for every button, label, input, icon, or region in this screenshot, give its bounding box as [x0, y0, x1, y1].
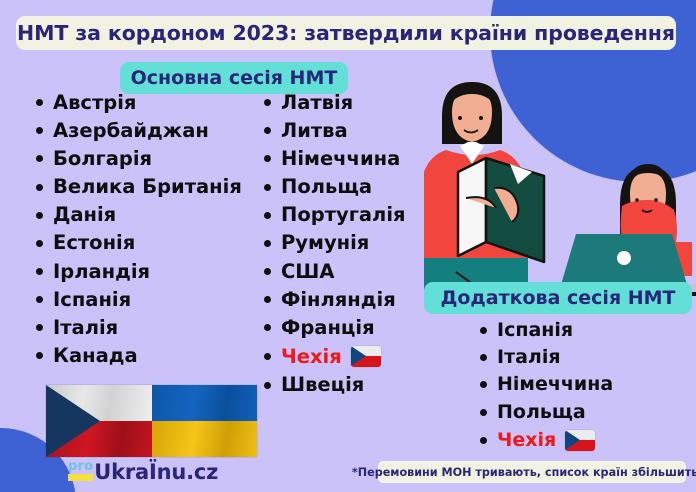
country-name: Німеччина	[281, 149, 400, 169]
country-name: Італія	[53, 318, 118, 338]
country-name: Болгарія	[53, 149, 152, 169]
bullet-icon	[264, 127, 271, 134]
bullet-icon	[36, 240, 43, 247]
list-item: Фінляндія	[264, 290, 406, 310]
list-item: Чехія	[480, 430, 613, 451]
list-item: Німеччина	[480, 375, 613, 394]
logo-yellow-bar	[68, 474, 93, 481]
list-item: Чехія	[264, 346, 406, 367]
bullet-icon	[480, 327, 487, 334]
country-name: Румунія	[281, 233, 369, 253]
logo-pro-mark: pro	[68, 460, 93, 483]
footnote-text: *Перемовини МОН тривають, список країн з…	[352, 466, 696, 479]
country-name: Литва	[281, 121, 348, 141]
country-name: Ірландія	[53, 262, 150, 282]
list-item: Латвія	[264, 93, 406, 113]
country-name: Естонія	[53, 233, 135, 253]
czech-flag-icon	[565, 430, 595, 451]
country-name: США	[281, 262, 335, 282]
bullet-icon	[36, 268, 43, 275]
bullet-icon	[480, 437, 487, 444]
country-name: Польща	[497, 403, 586, 422]
country-name: Чехія	[497, 431, 556, 450]
bullet-icon	[480, 381, 487, 388]
list-item: Німеччина	[264, 149, 406, 169]
students-illustration	[424, 46, 696, 296]
country-name: Азербайджан	[53, 121, 209, 141]
bullet-icon	[36, 352, 43, 359]
bullet-icon	[264, 268, 271, 275]
czech-flag-large-icon	[46, 385, 152, 457]
country-name: Іспанія	[53, 290, 131, 310]
bullet-icon	[36, 184, 43, 191]
list-item: Польща	[480, 403, 613, 422]
country-name: Італія	[497, 348, 561, 367]
country-name: Франція	[281, 318, 375, 338]
bullet-icon	[36, 324, 43, 331]
bullet-icon	[36, 127, 43, 134]
extra-session-badge: Додаткова сесія НМТ	[424, 282, 692, 314]
extra-session-badge-label: Додаткова сесія НМТ	[440, 287, 675, 309]
country-name: Велика Британія	[53, 177, 242, 197]
country-name: Німеччина	[497, 375, 613, 394]
country-name: Іспанія	[497, 321, 573, 340]
list-item: Канада	[36, 346, 242, 366]
list-item: Італія	[36, 318, 242, 338]
bullet-icon	[264, 353, 271, 360]
infographic-poster: НМТ за кордоном 2023: затвердили країни …	[0, 0, 696, 492]
bullet-icon	[264, 240, 271, 247]
country-name: Польща	[281, 177, 372, 197]
flags-banner	[46, 385, 257, 457]
bullet-icon	[480, 354, 487, 361]
country-name: Фінляндія	[281, 290, 396, 310]
list-item: Азербайджан	[36, 121, 242, 141]
main-session-country-column-2: ЛатвіяЛитваНімеччинаПольщаПортугаліяРуму…	[264, 93, 406, 404]
bullet-icon	[264, 324, 271, 331]
logo-brand: UkraÏnu.cz	[94, 462, 218, 483]
bullet-icon	[36, 296, 43, 303]
bullet-icon	[36, 99, 43, 106]
country-list: ЛатвіяЛитваНімеччинаПольщаПортугаліяРуму…	[264, 93, 406, 395]
country-name: Данія	[53, 205, 116, 225]
bullet-icon	[264, 99, 271, 106]
extra-session-country-column: ІспаніяІталіяНімеччинаПольщаЧехія	[480, 321, 613, 459]
list-item: Іспанія	[480, 321, 613, 340]
bullet-icon	[480, 409, 487, 416]
bullet-icon	[264, 382, 271, 389]
bullet-icon	[264, 296, 271, 303]
list-item: Естонія	[36, 233, 242, 253]
country-list: ІспаніяІталіяНімеччинаПольщаЧехія	[480, 321, 613, 451]
list-item: Франція	[264, 318, 406, 338]
list-item: Румунія	[264, 233, 406, 253]
list-item: Ірландія	[36, 262, 242, 282]
czech-flag-icon	[351, 346, 381, 367]
list-item: Велика Британія	[36, 177, 242, 197]
bullet-icon	[264, 212, 271, 219]
list-item: Болгарія	[36, 149, 242, 169]
list-item: США	[264, 262, 406, 282]
logo-prefix: pro	[68, 460, 93, 473]
country-name: Австрія	[53, 93, 136, 113]
bullet-icon	[36, 155, 43, 162]
country-list: АвстріяАзербайджанБолгаріяВелика Британі…	[36, 93, 242, 365]
list-item: Польща	[264, 177, 406, 197]
bullet-icon	[36, 212, 43, 219]
country-name: Чехія	[281, 347, 342, 367]
country-name: Португалія	[281, 205, 406, 225]
country-name: Латвія	[281, 93, 353, 113]
poster-title: НМТ за кордоном 2023: затвердили країни …	[16, 16, 676, 50]
list-item: Італія	[480, 348, 613, 367]
country-name: Швеція	[281, 375, 364, 395]
list-item: Іспанія	[36, 290, 242, 310]
site-logo[interactable]: pro UkraÏnu.cz	[68, 460, 218, 483]
list-item: Австрія	[36, 93, 242, 113]
bullet-icon	[264, 184, 271, 191]
country-name: Канада	[53, 346, 138, 366]
list-item: Данія	[36, 205, 242, 225]
poster-title-text: НМТ за кордоном 2023: затвердили країни …	[17, 21, 675, 45]
list-item: Швеція	[264, 375, 406, 395]
bullet-icon	[264, 155, 271, 162]
main-session-country-column-1: АвстріяАзербайджанБолгаріяВелика Британі…	[36, 93, 242, 374]
footnote-banner: *Перемовини МОН тривають, список країн з…	[378, 461, 686, 483]
main-session-badge-label: Основна сесія НМТ	[131, 67, 338, 89]
list-item: Португалія	[264, 205, 406, 225]
list-item: Литва	[264, 121, 406, 141]
ukraine-flag-large-icon	[152, 385, 258, 457]
main-session-badge: Основна сесія НМТ	[120, 62, 348, 94]
